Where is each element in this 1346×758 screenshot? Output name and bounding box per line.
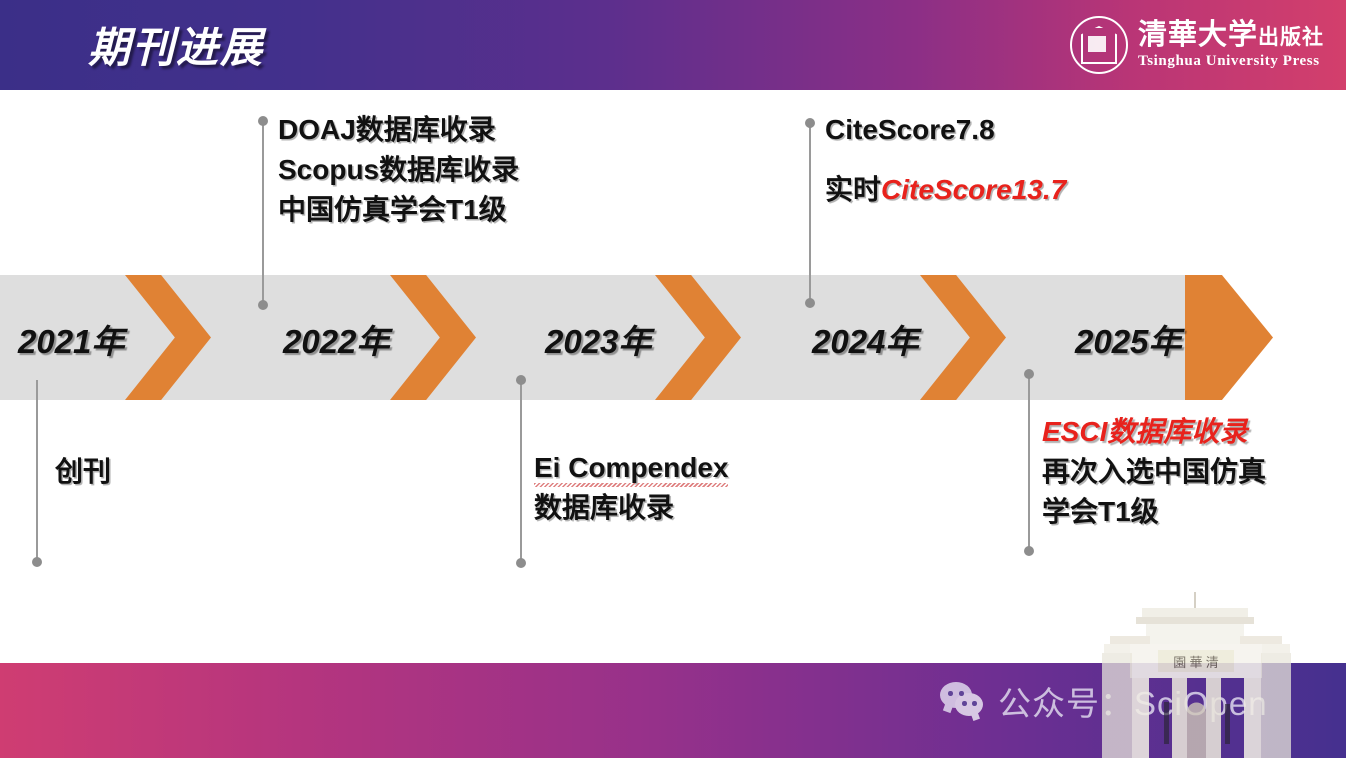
- logo-chinese-name: 清華大学出版社: [1138, 21, 1324, 50]
- page-footer: 公众号：SciOpen: [0, 663, 1346, 758]
- tsinghua-university-press-logo: 清華大学出版社 Tsinghua University Press: [1070, 16, 1324, 74]
- leader-line-2024: [809, 124, 811, 304]
- timeline-year-2022: 2022年: [283, 315, 389, 363]
- page-header: 期刊进展 清華大学出版社 Tsinghua University Press: [0, 0, 1346, 90]
- leader-dot-2023-bottom: [516, 558, 526, 568]
- timeline-year-2021: 2021年: [18, 315, 124, 363]
- annotation-2024-realtime-value: CiteScore13.7: [881, 174, 1066, 205]
- annotation-2025-line-1: 再次入选中国仿真: [1042, 452, 1266, 492]
- timeline-chevron-end-arrow: [1185, 275, 1273, 400]
- wechat-bubble-front: [955, 693, 983, 716]
- leader-line-2023: [520, 380, 522, 563]
- leader-dot-2025-bottom: [1024, 546, 1034, 556]
- leader-dot-2021: [32, 557, 42, 567]
- spellcheck-squiggle-icon: [534, 483, 728, 487]
- wechat-account-row: 公众号：SciOpen: [940, 677, 1268, 725]
- timeline-year-2023: 2023年: [545, 315, 651, 363]
- timeline-year-2024: 2024年: [812, 315, 918, 363]
- annotation-2024-realtime-prefix: 实时: [825, 174, 881, 205]
- wechat-eye-4: [972, 701, 977, 706]
- leader-line-2021: [36, 380, 38, 562]
- leader-dot-2024-bottom: [805, 298, 815, 308]
- page-title: 期刊进展: [88, 14, 264, 75]
- wechat-eye-3: [962, 701, 967, 706]
- wechat-account-label: 公众号：SciOpen: [998, 677, 1268, 725]
- annotation-2024-citescore: CiteScore7.8: [825, 110, 1066, 150]
- annotation-2024-realtime-row: 实时CiteScore13.7: [825, 170, 1066, 210]
- annotation-2021: 创刊: [55, 452, 111, 492]
- logo-chinese-suffix: 出版社: [1258, 25, 1324, 49]
- annotation-2023-line-2: 数据库收录: [534, 488, 728, 528]
- annotation-2022-line-1: DOAJ数据库收录: [278, 110, 519, 150]
- leader-dot-2025-top: [1024, 369, 1034, 379]
- logo-english-name: Tsinghua University Press: [1138, 54, 1320, 69]
- leader-dot-2022-top: [258, 116, 268, 126]
- annotation-2025-headline: ESCI数据库收录: [1042, 412, 1266, 452]
- tsinghua-seal-icon: [1070, 16, 1128, 74]
- annotation-2022-line-2: Scopus数据库收录: [278, 150, 519, 190]
- logo-text: 清華大学出版社 Tsinghua University Press: [1138, 21, 1324, 69]
- leader-line-2022: [262, 122, 264, 307]
- annotation-2024: CiteScore7.8 实时CiteScore13.7: [825, 110, 1066, 210]
- leader-line-2025: [1028, 374, 1030, 551]
- timeline-year-2025: 2025年: [1075, 315, 1181, 363]
- annotation-2025-line-2: 学会T1级: [1042, 492, 1266, 532]
- annotation-2021-line-1: 创刊: [55, 452, 111, 492]
- annotation-2023: Ei Compendex 数据库收录: [534, 448, 728, 528]
- wechat-eye-2: [959, 691, 964, 696]
- annotation-2023-line-1-text: Ei Compendex: [534, 452, 728, 483]
- wechat-icon: [940, 682, 986, 720]
- logo-chinese-main: 清華大学: [1138, 19, 1258, 51]
- leader-dot-2022-bottom: [258, 300, 268, 310]
- annotation-2023-line-1: Ei Compendex: [534, 448, 728, 488]
- wechat-eye-1: [948, 691, 953, 696]
- annotation-2022-line-3: 中国仿真学会T1级: [278, 190, 519, 230]
- annotation-2025: ESCI数据库收录 再次入选中国仿真 学会T1级: [1042, 412, 1266, 531]
- annotation-2022: DOAJ数据库收录 Scopus数据库收录 中国仿真学会T1级: [278, 110, 519, 229]
- leader-dot-2023-top: [516, 375, 526, 385]
- leader-dot-2024-top: [805, 118, 815, 128]
